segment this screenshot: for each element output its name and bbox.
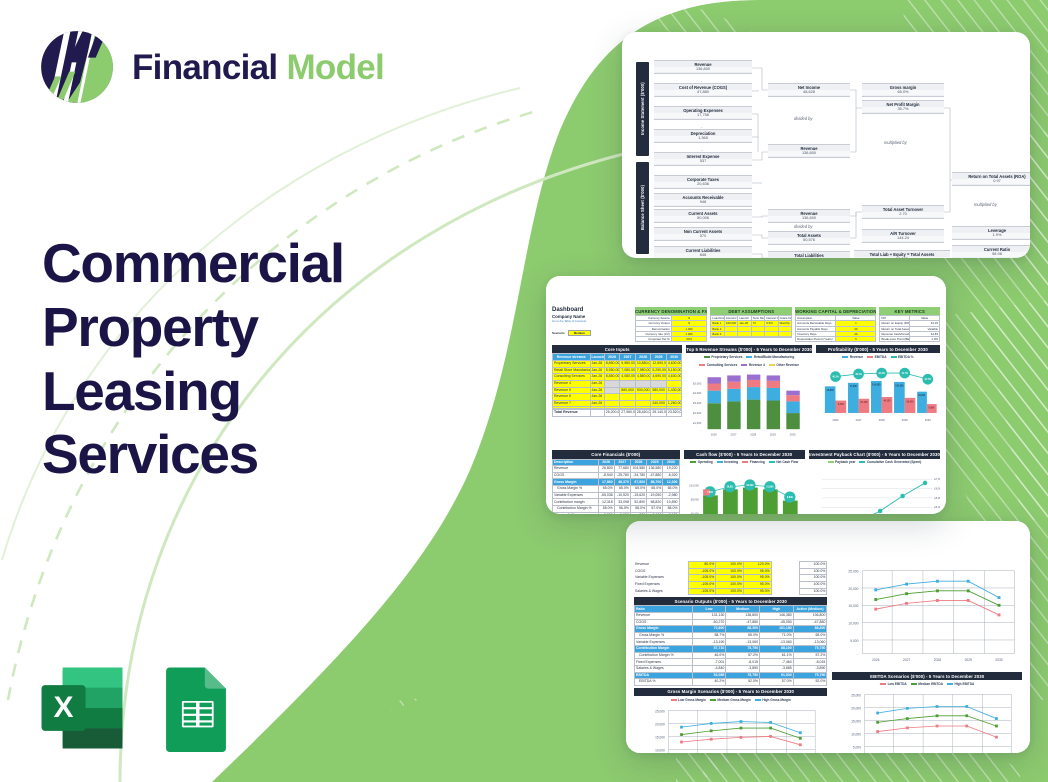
dupont-node: A/R Turnover 144.24 (862, 229, 944, 243)
svg-text:2029: 2029 (965, 658, 972, 662)
svg-text:26,800: 26,800 (826, 390, 834, 392)
wc-panel-header: WORKING CAPITAL & DEPRECIATION (795, 307, 876, 315)
compatible-apps: X (38, 664, 240, 752)
svg-text:6,848: 6,848 (786, 496, 793, 499)
scenario-summary-chart: 25,00020,00015,000 10,0005,000- (832, 561, 1022, 665)
kpi-panel: KEY METRICS KPIValue Return on Equity (R… (879, 307, 940, 342)
scenario-right-column: 25,00020,00015,000 10,0005,000- (832, 561, 1022, 753)
svg-text:£10,000: £10,000 (689, 483, 699, 487)
dupont-tree: Income Statement ($'000) Balance Sheet (… (622, 32, 1030, 258)
cashflow-header: Cash flow ($'000) - 5 Years to December … (684, 450, 805, 458)
scenario-value[interactable]: Medium (568, 330, 591, 336)
left-content-column: Financial Model Commercial Property Leas… (0, 0, 440, 782)
dupont-node: Leverage 1.9% (952, 226, 1030, 240)
operator-label: multiplied by (884, 140, 907, 145)
svg-text:2026: 2026 (711, 433, 717, 437)
dashboard-bottom-row: Core Financials ($'000) Description 2026… (552, 450, 940, 514)
dupont-node: Non Current Assets 570 (654, 227, 752, 241)
svg-text:2030: 2030 (996, 658, 1003, 662)
svg-text:40.3%: 40.3% (832, 376, 839, 379)
svg-text:2027: 2027 (731, 433, 737, 437)
svg-text:33,099: 33,099 (746, 484, 754, 486)
svg-text:2029: 2029 (770, 433, 776, 437)
core-financials-header: Core Financials ($'000) (552, 450, 680, 458)
dupont-node: Total Liab + Equity = Total Assets 50,57… (854, 250, 950, 258)
working-capital-panel: WORKING CAPITAL & DEPRECIATION Assumptio… (795, 307, 876, 342)
svg-text:7,802: 7,802 (707, 491, 714, 493)
svg-text:25,138: 25,138 (860, 403, 868, 405)
svg-text:2027: 2027 (855, 418, 861, 422)
dupont-node: Current Liabilities 848 (654, 246, 752, 258)
dashboard-sheet: Dashboard Company Name Go to the Table o… (546, 276, 946, 514)
dupont-node: Depreciation 1,365 (654, 129, 752, 143)
dupont-node: Revenue 136,800 (768, 144, 850, 158)
kpi-table: KPIValue Return on Equity (ROE)61.03 Ret… (879, 315, 940, 342)
dupont-node: Current Assets 50,006 (654, 209, 752, 223)
dupont-node: Total Assets 50,576 (768, 231, 850, 245)
currency-panel: CURRENCY DENOMINATION & FX Currency Sour… (635, 307, 707, 342)
dashboard-middle-row: Core Inputs Revenue streams Launch 2026 … (552, 345, 940, 447)
title-line-2: Property (42, 296, 432, 360)
svg-text:5,000: 5,000 (851, 639, 859, 643)
payback-chart: £7,000£6,000£5,000 £4,000£3,000£2,000 £1… (809, 466, 940, 514)
brand-name-part2: Model (286, 48, 384, 87)
profitability-chart: 40.3% 39.1% 42.2% 41.7% 42.7% 26,80077,6… (816, 360, 940, 434)
svg-text:20,000: 20,000 (849, 587, 859, 591)
svg-text:39.1%: 39.1% (855, 374, 862, 376)
svg-text:2030: 2030 (925, 418, 931, 422)
dupont-node: Total Asset Turnover 2.70 (862, 205, 944, 219)
svg-text:£7,000: £7,000 (934, 477, 940, 481)
svg-text:25,000: 25,000 (655, 709, 665, 713)
svg-text:2030: 2030 (790, 433, 796, 437)
dupont-node: Net Profit Margin 35.7% (862, 100, 944, 114)
svg-text:£1,000: £1,000 (693, 421, 702, 425)
dupont-node: Cost of Revenue (COGS) 47,880 (654, 83, 752, 97)
dupont-node: Operating Expenses 17,758 (654, 106, 752, 120)
svg-text:2026: 2026 (873, 658, 880, 662)
page-title: Commercial Property Leasing Services (42, 232, 432, 487)
kpi-panel-header: KEY METRICS (879, 307, 940, 315)
svg-text:20,000: 20,000 (655, 722, 665, 726)
dupont-node: Gross margin 65.0% (862, 83, 944, 97)
core-financials-table: Description 20262027 20282029 2030 Reven… (552, 459, 680, 514)
dashboard-toc-link[interactable]: Go to the Table of Contents (552, 319, 632, 323)
svg-text:2028: 2028 (934, 658, 941, 662)
scenario-sheet: Revenue 80.0% 100.0% 120.0% 100.0% COGS … (626, 521, 1030, 753)
svg-text:£6,000: £6,000 (690, 511, 698, 514)
svg-text:£5,000: £5,000 (693, 382, 702, 386)
revenue-streams-legend: Proprietary Services Retail/Build Manufa… (686, 353, 811, 368)
ebitda-scenarios-header: EBITDA Scenarios ($'000) - 5 Years to De… (832, 672, 1022, 680)
svg-text:21,895: 21,895 (766, 486, 774, 488)
title-line-4: Services (42, 423, 432, 487)
svg-text:£6,000: £6,000 (934, 486, 940, 490)
svg-text:25,000: 25,000 (852, 693, 862, 697)
svg-text:£4,000: £4,000 (693, 392, 702, 396)
income-statement-spine: Income Statement ($'000) (636, 62, 649, 156)
svg-text:44,130: 44,130 (883, 400, 891, 403)
svg-text:-: - (858, 652, 859, 656)
circle-bar-chart-logo-icon (38, 28, 116, 106)
brand-logo: Financial Model (38, 28, 384, 106)
operator-label: multiplied by (974, 202, 997, 207)
wc-table: AssumptionValue Accounts Receivable Days… (795, 315, 876, 342)
payback-legend: Payback year Cumulative Cash Generated (… (809, 459, 940, 466)
svg-text:£4,000: £4,000 (934, 505, 940, 509)
svg-text:5,090: 5,090 (928, 408, 934, 410)
svg-text:41.7%: 41.7% (901, 372, 908, 375)
currency-table: Currency Source$ Currency Output$ Denomi… (635, 315, 707, 342)
dashboard-card[interactable]: Dashboard Company Name Go to the Table o… (546, 276, 946, 514)
operator-label: divided by (794, 224, 812, 229)
debt-table: Loan/Grant NameAmount $ LaunchTerm Month… (710, 315, 792, 338)
brand-name-part1: Financial (132, 48, 277, 87)
svg-text:8,158: 8,158 (838, 404, 844, 406)
cashflow-legend: Operating Investing Financing Net Cash F… (684, 459, 805, 466)
title-line-1: Commercial (42, 232, 432, 296)
svg-text:5,000: 5,000 (853, 745, 861, 749)
svg-text:25,000: 25,000 (849, 570, 859, 574)
svg-text:£8,000: £8,000 (690, 497, 698, 501)
svg-text:£5,000: £5,000 (934, 495, 940, 499)
svg-text:60,920: 60,920 (906, 402, 914, 404)
revenue-streams-chart-block: Top 5 Revenue Streams ($'000) - 5 Years … (686, 345, 811, 447)
dupont-node: Net Income 48,628 (768, 83, 850, 97)
gross-margin-legend: Low Gross Margin Medium Gross Margin Hig… (634, 696, 827, 703)
core-inputs-header: Core Inputs (552, 345, 682, 353)
svg-text:2028: 2028 (878, 418, 884, 422)
svg-text:10,000: 10,000 (852, 732, 862, 736)
core-inputs-block: Core Inputs Revenue streams Launch 2026 … (552, 345, 682, 447)
ebitda-chart: 25,000 20,000 15,000 10,000 5,000 - (832, 687, 1022, 753)
gross-margin-chart: 25,000 20,000 15,000 10,000 5,000 - (634, 703, 827, 753)
dupont-node: Current Ratio 58.98 (952, 245, 1030, 258)
currency-panel-header: CURRENCY DENOMINATION & FX (635, 307, 707, 315)
svg-text:20,000: 20,000 (852, 706, 862, 710)
svg-text:42.7%: 42.7% (924, 379, 931, 382)
dashboard-top-strip: Dashboard Company Name Go to the Table o… (552, 307, 940, 342)
balance-sheet-spine: Balance Sheet ($'000) (636, 162, 649, 254)
scenario-assumptions-table: Revenue 80.0% 100.0% 120.0% 100.0% COGS … (634, 561, 827, 595)
svg-text:2029: 2029 (902, 418, 908, 422)
svg-text:77,680: 77,680 (850, 387, 858, 389)
microsoft-excel-icon: X (38, 664, 126, 752)
payback-header: Investment Payback Chart ($'000) - 5 Yea… (809, 450, 940, 458)
svg-text:2027: 2027 (903, 658, 910, 662)
core-inputs-table: Revenue streams Launch 2026 2027 2028 20… (552, 353, 682, 416)
profitability-header: Profitability ($'000) - 5 Years to Decem… (816, 345, 940, 353)
scenario-label: Scenario (552, 331, 565, 335)
dupont-node: Corporate Taxes 20,636 (654, 175, 752, 189)
core-financials-block: Core Financials ($'000) Description 2026… (552, 450, 680, 514)
svg-text:£2,000: £2,000 (693, 411, 702, 415)
title-line-3: Leasing (42, 360, 432, 424)
dupont-node: Interest Expense 537 (654, 152, 752, 166)
svg-text:15,000: 15,000 (852, 719, 862, 723)
svg-text:10,000: 10,000 (655, 748, 665, 752)
dupont-node: Accounts Receivable 948 (654, 193, 752, 207)
svg-text:2028: 2028 (751, 433, 757, 437)
debt-panel-header: DEBT ASSUMPTIONS (710, 307, 792, 315)
scenario-outputs-table: Ratio LowMedium HighActive (Medium) Reve… (634, 605, 827, 686)
svg-text:2026: 2026 (832, 418, 838, 422)
scenario-card[interactable]: Revenue 80.0% 100.0% 120.0% 100.0% COGS … (626, 521, 1030, 753)
scenario-body: Revenue 80.0% 100.0% 120.0% 100.0% COGS … (634, 561, 1022, 753)
dashboard-title: Dashboard (552, 307, 632, 314)
dupont-node: Revenue 136,800 (654, 60, 752, 74)
svg-text:104,580: 104,580 (872, 384, 881, 387)
google-sheets-icon (152, 664, 240, 752)
dashboard-heading-block: Dashboard Company Name Go to the Table o… (552, 307, 632, 336)
svg-text:15,000: 15,000 (655, 735, 665, 739)
profitability-legend: Revenue EBITDA EBITDA % (816, 353, 940, 360)
brand-name: Financial Model (132, 50, 384, 85)
operator-label: divided by (794, 116, 812, 121)
ebitda-legend: Low EBITDA Medium EBITDA High EBITDA (832, 680, 1022, 687)
svg-text:19,220: 19,220 (918, 396, 926, 398)
dupont-analysis-card[interactable]: Income Statement ($'000) Balance Sheet (… (622, 32, 1030, 258)
dupont-node: Revenue 136,800 (768, 209, 850, 223)
svg-text:42.2%: 42.2% (878, 372, 885, 375)
svg-text:136,580: 136,580 (895, 386, 904, 388)
svg-text:-: - (701, 429, 702, 432)
revenue-streams-header: Top 5 Revenue Streams ($'000) - 5 Years … (686, 345, 811, 353)
svg-text:£3,000: £3,000 (693, 401, 702, 405)
profitability-chart-block: Profitability ($'000) - 5 Years to Decem… (816, 345, 940, 447)
svg-text:10,000: 10,000 (849, 622, 859, 626)
scenario-outputs-header: Scenario Outputs ($'000) - 5 Years to De… (634, 597, 827, 605)
revenue-streams-chart: £5,000£4,000 £3,000£2,000 £1,000- (686, 368, 811, 442)
cashflow-chart-block: Cash flow ($'000) - 5 Years to December … (684, 450, 805, 514)
debt-panel: DEBT ASSUMPTIONS Loan/Grant NameAmount $… (710, 307, 792, 338)
cashflow-chart: £10,000£8,000£6,000 £4,000£2,000- (684, 466, 805, 514)
svg-text:15,000: 15,000 (849, 604, 859, 608)
gross-margin-scenarios-header: Gross Margin Scenarios ($'000) - 5 Years… (634, 688, 827, 696)
scenario-left-column: Revenue 80.0% 100.0% 120.0% 100.0% COGS … (634, 561, 827, 753)
dupont-node: Return on Total Assets (ROA) 0.97 (952, 172, 1030, 186)
svg-text:18,811: 18,811 (726, 486, 734, 488)
svg-text:X: X (54, 691, 74, 724)
payback-chart-block: Investment Payback Chart ($'000) - 5 Yea… (809, 450, 940, 514)
dupont-node: Total Liabilities 949 (768, 251, 850, 258)
